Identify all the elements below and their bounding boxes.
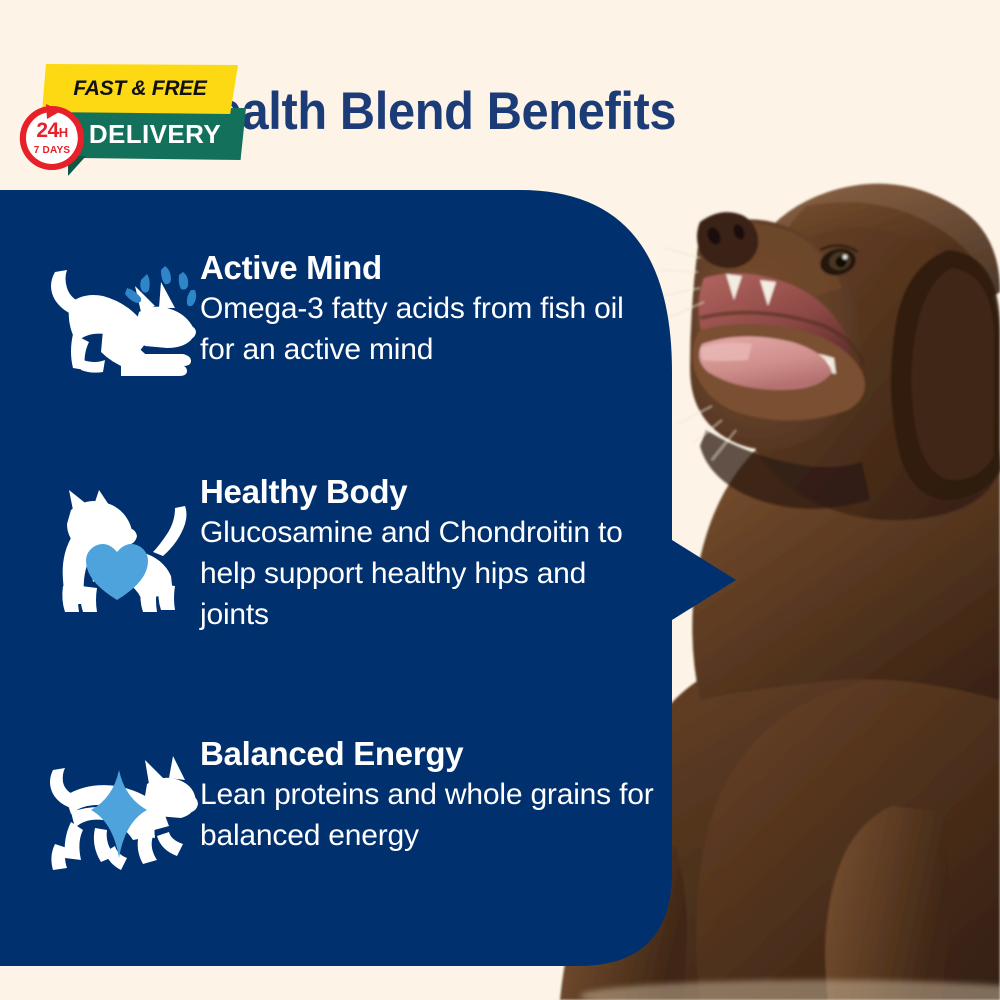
benefit-title: Healthy Body <box>200 472 660 512</box>
benefit-item-healthy-body: Healthy Body Glucosamine and Chondroitin… <box>40 472 660 635</box>
dog-running-star-icon <box>43 756 198 876</box>
benefits-list: Active Mind Omega-3 fatty acids from fis… <box>0 0 660 1000</box>
benefit-text-wrap: Balanced Energy Lean proteins and whole … <box>200 734 660 856</box>
benefit-item-balanced-energy: Balanced Energy Lean proteins and whole … <box>40 734 660 876</box>
dog-play-bow-sparkles-icon <box>43 260 198 385</box>
benefit-icon-wrap <box>40 472 200 618</box>
benefit-icon-wrap <box>40 734 200 876</box>
benefit-description: Omega-3 fatty acids from fish oil for an… <box>200 288 640 370</box>
benefit-title: Balanced Energy <box>200 734 660 774</box>
benefit-icon-wrap <box>40 248 200 385</box>
dog-standing-heart-icon <box>45 490 195 618</box>
benefit-title: Active Mind <box>200 248 640 288</box>
benefit-description: Glucosamine and Chondroitin to help supp… <box>200 512 660 635</box>
benefit-text-wrap: Active Mind Omega-3 fatty acids from fis… <box>200 248 640 370</box>
benefit-item-active-mind: Active Mind Omega-3 fatty acids from fis… <box>40 248 640 385</box>
benefit-text-wrap: Healthy Body Glucosamine and Chondroitin… <box>200 472 660 635</box>
promo-banner: e Health Blend Benefits DELIVERY FAST & … <box>0 0 1000 1000</box>
benefit-description: Lean proteins and whole grains for balan… <box>200 774 660 856</box>
